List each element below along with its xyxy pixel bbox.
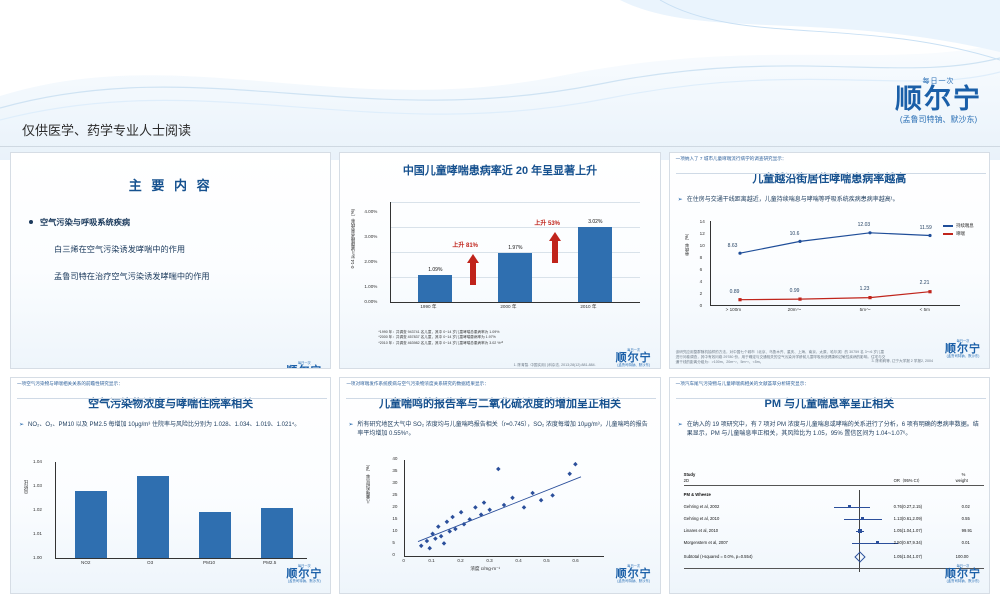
slide-logo-name: 顺尔宁 [945, 344, 981, 355]
slide-logo: 每日一次 顺尔宁 (孟鲁司特钠、默沙东) [945, 565, 981, 583]
slide-traffic-distance[interactable]: 一项纳入了 7 城市儿童哮喘流行病学的调查研究显示： 儿童越沿街居住哮喘患病率越… [669, 152, 990, 369]
x-axis-label: 浓度 c/mg·m⁻¹ [470, 566, 500, 572]
bullet-icon [29, 220, 33, 224]
forest-ci-line [852, 543, 898, 544]
slide-logo-name: 顺尔宁 [945, 569, 981, 580]
slide-bullet: ➢ NO₂、O₃、PM10 以及 PM2.5 每增加 10μg/m³ 住院率与风… [11, 419, 330, 430]
slide-rule [17, 398, 327, 399]
y-tick-label: 1.00 [33, 555, 42, 560]
x-tick-label: 1990 年 [420, 304, 436, 310]
reference-block: 1. 陈育智. 中国实用儿科杂志, 2013;28(12):881-884. 2… [426, 363, 596, 369]
data-label: 0.99 [790, 288, 800, 294]
bar-2010 [578, 227, 612, 303]
y-tick-label: 12 [700, 231, 705, 236]
x-tick-label: O3 [147, 560, 153, 565]
slide-logo-name: 顺尔宁 [286, 569, 322, 580]
x-tick-label: 0.6 [572, 558, 578, 563]
bullet-icon [43, 274, 47, 278]
x-tick-label: 20m～ [788, 307, 802, 313]
slide-logo-sub: (孟鲁司特钠、默沙东) [286, 580, 322, 583]
forest-footer-rule [684, 568, 984, 569]
arrow-bullet-icon: ➢ [678, 196, 683, 205]
traffic-line-chart: 患病率（%） 持续喘息 哮喘 [684, 215, 980, 325]
y-tick-label: 2 [700, 291, 703, 296]
x-tick-label: 0 [402, 558, 405, 563]
x-tick-label: PM10 [203, 560, 215, 565]
bar-o3 [137, 476, 169, 558]
y-tick-label: 1.03 [33, 483, 42, 488]
audience-note: 仅供医学、药学专业人士阅读 [22, 120, 191, 139]
x-tick-label: 2010 年 [580, 304, 596, 310]
agenda-list: 空气污染与呼吸系统疾病 白三烯在空气污染诱发哮喘中的作用 孟鲁司特在治疗空气污染… [29, 216, 330, 282]
data-label: 12.03 [858, 222, 871, 228]
increase-arrow-2 [548, 232, 561, 263]
slide-rule [676, 398, 986, 399]
slide-bullet-text: 所有研究地区大气中 SO₂ 浓度均与儿童喘鸣报告相关（r=0.745），SO₂ … [357, 421, 651, 439]
so2-scatter-chart: 儿童喘鸣报告率（%） [366, 456, 646, 586]
bar-pm25 [261, 508, 293, 558]
slide-logo: 每日一次 顺尔宁 (孟鲁司特钠、默沙东) [616, 349, 652, 367]
slide-logo-name: 顺尔宁 [616, 569, 652, 580]
arrow-bullet-icon: ➢ [348, 421, 353, 439]
header-divider [0, 146, 1000, 147]
y-tick-label: 3.00% [364, 234, 377, 239]
y-tick-label: 1.00% [364, 284, 377, 289]
slide-prevalence[interactable]: 中国儿童哮喘患病率近 20 年呈显著上升 0-14 岁儿童哮喘总患病率（%） [339, 152, 660, 369]
x-tick-label: 2000 年 [500, 304, 516, 310]
forest-weight-value: 0.02 [962, 504, 970, 509]
forest-subtotal-label: Subtotal (I-squared = 0.0%, p=0.554) [684, 554, 753, 559]
y-axis-label: 患病率（%） [684, 231, 690, 256]
agenda-item-label: 白三烯在空气污染诱发哮喘中的作用 [54, 243, 185, 255]
forest-header-rule [684, 485, 984, 486]
footnote-line: *2010 年：共调查 463982 名儿童，其中 0~14 岁儿童哮喘总患病率… [378, 341, 628, 346]
y-tick-label: 40 [392, 456, 397, 461]
y-tick-label: 4.00% [364, 209, 377, 214]
slide-logo: 每日一次 顺尔宁 (孟鲁司特钠、默沙东) [286, 362, 322, 369]
y-tick-label: 0.00% [364, 299, 377, 304]
forest-col-or: OR（95% CI） [894, 478, 922, 484]
slide-eyebrow: 一项汽车尾气污染物与儿童哮喘病相关的文献荟萃分析研究显示： [670, 378, 989, 387]
forest-study-label: Gehring et al, 2010 [684, 516, 720, 521]
increase-arrow-1 [466, 254, 479, 285]
slide-logo-sub: (孟鲁司特钠、默沙东) [616, 580, 652, 583]
y-tick-label: 30 [392, 480, 397, 485]
x-tick-label: > 100m [726, 307, 741, 312]
x-tick-label: 0.4 [515, 558, 521, 563]
bar-1990 [418, 275, 452, 302]
brand-logo: 每日一次 顺尔宁 (孟鲁司特钠、默沙东) [895, 78, 982, 124]
x-tick-label: 0.5 [543, 558, 549, 563]
slide-logo-sub: (孟鲁司特钠、默沙东) [945, 580, 981, 583]
slide-pollutant-admission[interactable]: 一项空气污染物与哮喘相关关系的前瞻性研究显示： 空气污染物浓度与哮喘住院率相关 … [10, 377, 331, 594]
slide-bullet-text: NO₂、O₃、PM10 以及 PM2.5 每增加 10μg/m³ 住院率与风险比… [28, 421, 300, 430]
reference-line: 2. 中华儿科杂志 2013;51(10):729-735. [426, 368, 596, 369]
y-tick-label: 1.01 [33, 531, 42, 536]
bullet-icon [43, 247, 47, 251]
forest-effect-marker [876, 541, 879, 544]
y-axis-label: 儿童喘鸣报告率（%） [366, 462, 371, 503]
forest-study-label: Morgenstern et al, 2007 [684, 540, 728, 545]
x-tick-label: 5m～ [860, 307, 871, 313]
data-label: 8.63 [728, 243, 738, 249]
x-tick-label: 0.1 [428, 558, 434, 563]
y-tick-label: 35 [392, 468, 397, 473]
y-axis-label: 0-14 岁儿童哮喘总患病率（%） [350, 206, 356, 268]
x-tick-label: 0.2 [457, 558, 463, 563]
slide-title: 中国儿童哮喘患病率近 20 年呈显著上升 [340, 162, 659, 178]
data-label: 2.21 [920, 280, 930, 286]
y-tick-label: 8 [700, 255, 703, 260]
slide-logo-sub: (孟鲁司特钠、默沙东) [616, 364, 652, 367]
slide-rule [676, 173, 986, 174]
increase-label-2: 上升 53% [534, 218, 560, 227]
bar-no2 [75, 491, 107, 558]
y-tick-label: 2.00% [364, 259, 377, 264]
bar-value-1990: 1.09% [414, 267, 456, 273]
forest-ci-line [834, 507, 870, 508]
list-item: 孟鲁司特在治疗空气污染诱发哮喘中的作用 [43, 270, 330, 282]
y-tick-label: 10 [700, 243, 705, 248]
forest-plot: Study 2D OR（95% CI） % weight PM & Wheeze… [684, 472, 984, 584]
forest-weight-value: 100.00 [956, 554, 969, 559]
slide-bullet-text: 在纳入的 19 项研究中，有 7 项对 PM 浓度与儿童喘息或哮喘的关系进行了分… [687, 421, 981, 439]
footnote-block: *1990 年：共调查 943741 名儿童，其中 0~14 岁儿童哮喘总患病率… [378, 330, 628, 346]
brand-name: 顺尔宁 [895, 85, 982, 113]
y-tick-label: 4 [700, 279, 703, 284]
reference-line: 3. 陈莉莉等, 辽宁大学报 2 学报2, 2004 [871, 359, 933, 364]
forest-study-label: Gehring et al, 2002 [684, 504, 720, 509]
forest-col-weight: weight [956, 478, 968, 483]
forest-or-value: 1.05(1.04,1.07) [894, 554, 922, 559]
x-tick-label: < 5m [920, 307, 930, 312]
brand-subtitle: (孟鲁司特钠、默沙东) [895, 116, 982, 124]
slide-rule [346, 398, 656, 399]
data-label: 1.23 [860, 286, 870, 292]
y-tick-label: 0 [392, 552, 395, 557]
forest-col-study: Study [684, 472, 696, 477]
y-tick-label: 14 [700, 219, 705, 224]
forest-or-value: 1.13(0.61,2.09) [894, 516, 922, 521]
slide-eyebrow: 一项空气污染物与哮喘相关关系的前瞻性研究显示： [11, 378, 330, 387]
y-tick-label: 25 [392, 492, 397, 497]
forest-or-value: 0.76(0.27,2.15) [894, 504, 922, 509]
y-tick-label: 0 [700, 303, 703, 308]
slide-logo: 每日一次 顺尔宁 (孟鲁司特钠、默沙东) [616, 565, 652, 583]
forest-group-label: PM & Wheeze [684, 492, 711, 497]
slide-logo-sub: (孟鲁司特钠、默沙东) [945, 355, 981, 358]
forest-col-study-sub: 2D [684, 478, 689, 483]
arrow-bullet-icon: ➢ [19, 421, 24, 430]
forest-or-value: 1.05(1.04,1.07) [894, 528, 922, 533]
agenda-item-label: 孟鲁司特在治疗空气污染诱发哮喘中的作用 [54, 270, 210, 282]
y-axis-label: 风险比 [23, 480, 29, 493]
forest-effect-marker [848, 505, 851, 508]
slide-footnote: 该研究应用整群随机抽样的方法，对中国七个城市（北京、乌鲁木齐、重庆、上海、南京、… [676, 350, 886, 365]
x-tick-label: PM2.5 [263, 560, 276, 565]
forest-weight-value: 0.01 [962, 540, 970, 545]
data-label: 0.89 [730, 289, 740, 295]
slide-pm-forest[interactable]: 一项汽车尾气污染物与儿童哮喘病相关的文献荟萃分析研究显示： PM 与儿童喘息率呈… [669, 377, 990, 594]
slide-row-1: 主 要 内 容 空气污染与呼吸系统疾病 白三烯在空气污染诱发哮喘中的作用 孟鲁司… [10, 152, 990, 369]
slide-bullet: ➢ 在纳入的 19 项研究中，有 7 项对 PM 浓度与儿童喘息或哮喘的关系进行… [670, 419, 989, 439]
forest-weight-value: 0.55 [962, 516, 970, 521]
slide-so2-report[interactable]: 一项对哮喘发作系统疾病与空气污染物浓度关系研究的数据结果显示： 儿童喘鸣的报告率… [339, 377, 660, 594]
bar-2000 [498, 253, 532, 302]
slide-logo: 每日一次 顺尔宁 (孟鲁司特钠、默沙东) [945, 340, 981, 358]
forest-effect-marker [858, 529, 863, 534]
forest-col-weight-pct: % [962, 472, 966, 477]
slide-eyebrow: 一项纳入了 7 城市儿童哮喘流行病学的调查研究显示： [670, 153, 989, 162]
slide-eyebrow: 一项对哮喘发作系统疾病与空气污染物浓度关系研究的数据结果显示： [340, 378, 659, 387]
slide-logo-name: 顺尔宁 [616, 353, 652, 364]
y-tick-label: 1.04 [33, 459, 42, 464]
data-label: 11.59 [920, 225, 932, 231]
agenda-item-label: 空气污染与呼吸系统疾病 [40, 216, 130, 228]
slide-bullet: ➢ 在住房与交通干线距离越近，儿童持续喘息与哮喘等呼吸系统疾病患病率越高¹。 [670, 194, 989, 205]
prevalence-bar-chart: 0-14 岁儿童哮喘总患病率（%） 1.09% [352, 192, 652, 322]
forest-weight-value: 99.91 [962, 528, 972, 533]
data-label: 10.6 [790, 231, 800, 237]
agenda-title: 主 要 内 容 [11, 175, 330, 194]
slide-bullet-text: 在住房与交通干线距离越近，儿童持续喘息与哮喘等呼吸系统疾病患病率越高¹。 [687, 196, 899, 205]
arrow-bullet-icon: ➢ [678, 421, 683, 439]
pollutant-bar-chart: 风险比 NO2 O3 PM10 PM2.5 [21, 454, 321, 584]
bar-pm10 [199, 512, 231, 558]
scatter-points [404, 460, 604, 556]
bar-value-2010: 3.02% [574, 219, 616, 225]
list-item: 白三烯在空气污染诱发哮喘中的作用 [43, 243, 330, 255]
bar-value-2000: 1.97% [494, 245, 536, 251]
slide-row-2: 一项空气污染物与哮喘相关关系的前瞻性研究显示： 空气污染物浓度与哮喘住院率相关 … [10, 377, 990, 594]
y-tick-label: 10 [392, 528, 397, 533]
forest-or-value: 2.50(0.67,9.34) [894, 540, 922, 545]
slide-logo: 每日一次 顺尔宁 (孟鲁司特钠、默沙东) [286, 565, 322, 583]
y-tick-label: 5 [392, 540, 395, 545]
x-tick-label: 0.3 [486, 558, 492, 563]
increase-label-1: 上升 81% [452, 240, 478, 249]
forest-effect-marker [861, 517, 864, 520]
y-tick-label: 6 [700, 267, 703, 272]
y-tick-label: 15 [392, 516, 397, 521]
list-item: 空气污染与呼吸系统疾病 [29, 216, 330, 228]
x-tick-label: NO2 [81, 560, 90, 565]
y-tick-label: 20 [392, 504, 397, 509]
slide-logo-name: 顺尔宁 [286, 366, 322, 369]
slide-agenda[interactable]: 主 要 内 容 空气污染与呼吸系统疾病 白三烯在空气污染诱发哮喘中的作用 孟鲁司… [10, 152, 331, 369]
forest-summary-diamond [854, 551, 865, 562]
slide-grid: 主 要 内 容 空气污染与呼吸系统疾病 白三烯在空气污染诱发哮喘中的作用 孟鲁司… [10, 152, 990, 602]
slide-bullet: ➢ 所有研究地区大气中 SO₂ 浓度均与儿童喘鸣报告相关（r=0.745），SO… [340, 419, 659, 439]
forest-study-label: Linares et al, 2010 [684, 528, 718, 533]
y-tick-label: 1.02 [33, 507, 42, 512]
